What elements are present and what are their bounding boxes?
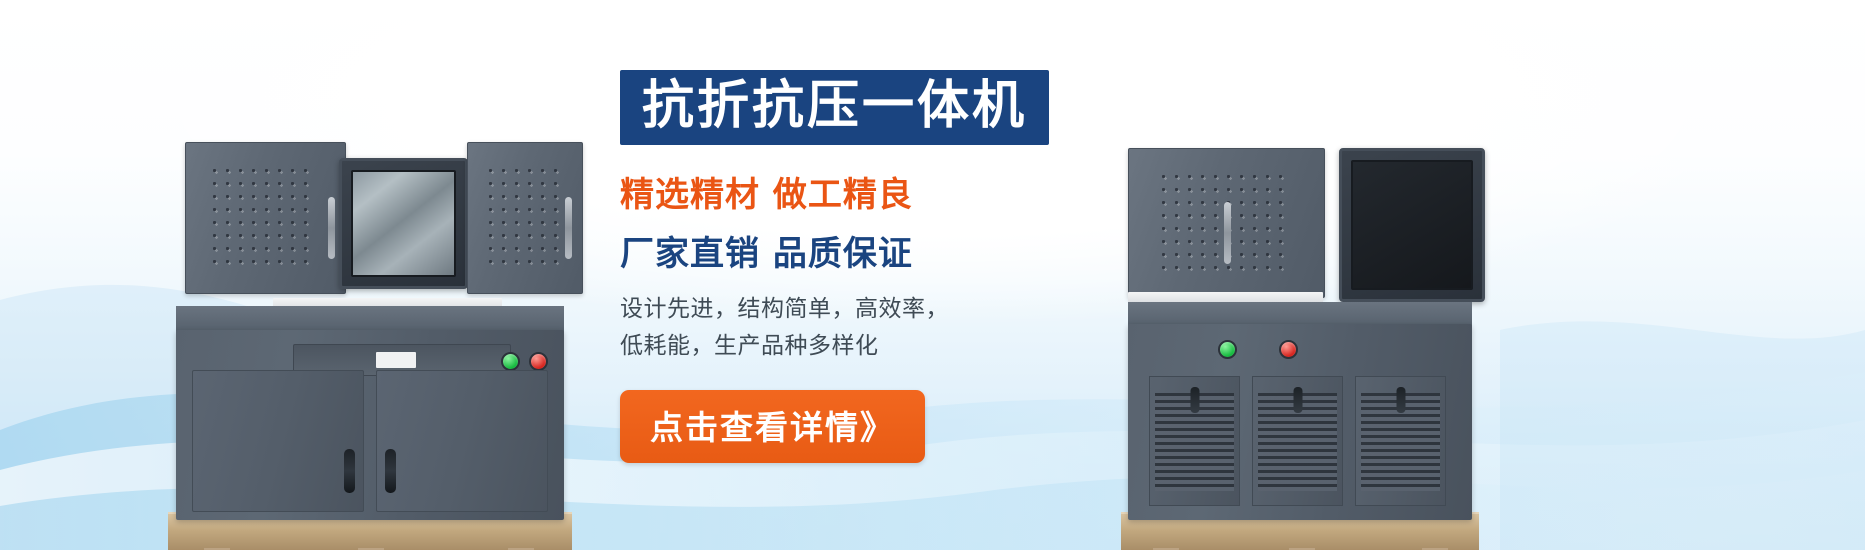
product-image-left	[150, 120, 590, 550]
machine-body	[1128, 324, 1471, 520]
indicator-light-green	[501, 352, 520, 371]
perforation-pattern	[1157, 170, 1286, 274]
indicator-light-red	[1279, 340, 1298, 359]
perforated-cabinet-left	[185, 142, 345, 294]
machine-deck	[176, 306, 563, 332]
cabinet-handle	[328, 197, 335, 259]
perforated-cabinet-right	[467, 142, 583, 294]
door-handle	[1293, 387, 1302, 413]
cabinet-handle	[1224, 202, 1231, 264]
louvre-door	[1355, 376, 1446, 506]
cabinet-handle	[565, 197, 572, 259]
view-details-button[interactable]: 点击查看详情》	[620, 390, 925, 463]
door-handle	[385, 449, 396, 493]
perforation-pattern	[484, 164, 560, 269]
monitor-screen	[1351, 160, 1473, 290]
perforation-pattern	[208, 164, 313, 269]
description-block: 设计先进，结构简单，高效率， 低耗能，生产品种多样化	[620, 291, 1140, 366]
headline-secondary: 厂家直销 品质保证	[620, 226, 1140, 275]
promo-text-column: 抗折抗压一体机 精选精材 做工精良 厂家直销 品质保证 设计先进，结构简单，高效…	[620, 70, 1140, 463]
monitor-screen	[351, 170, 456, 277]
control-monitor	[339, 158, 468, 289]
indicator-light-green	[1218, 340, 1237, 359]
name-plate	[376, 352, 416, 368]
description-line-1: 设计先进，结构简单，高效率，	[620, 291, 1140, 328]
title-banner: 抗折抗压一体机	[620, 70, 1049, 145]
indicator-light-red	[529, 352, 548, 371]
promo-banner: 抗折抗压一体机 精选精材 做工精良 厂家直销 品质保证 设计先进，结构简单，高效…	[0, 0, 1865, 550]
machine-body	[176, 330, 563, 520]
page-title: 抗折抗压一体机	[642, 80, 1027, 132]
control-monitor	[1339, 148, 1485, 302]
door-handle	[1190, 387, 1199, 413]
door-handle	[344, 449, 355, 493]
perforated-cabinet-double	[1128, 148, 1325, 298]
cabinet-door-right	[376, 370, 548, 512]
headline-primary: 精选精材 做工精良	[620, 167, 1140, 216]
description-line-2: 低耗能，生产品种多样化	[620, 328, 1140, 365]
louvre-door	[1149, 376, 1240, 506]
cabinet-door-left	[192, 370, 364, 512]
door-handle	[1396, 387, 1405, 413]
louvre-door	[1252, 376, 1343, 506]
product-image-right	[1105, 130, 1495, 550]
